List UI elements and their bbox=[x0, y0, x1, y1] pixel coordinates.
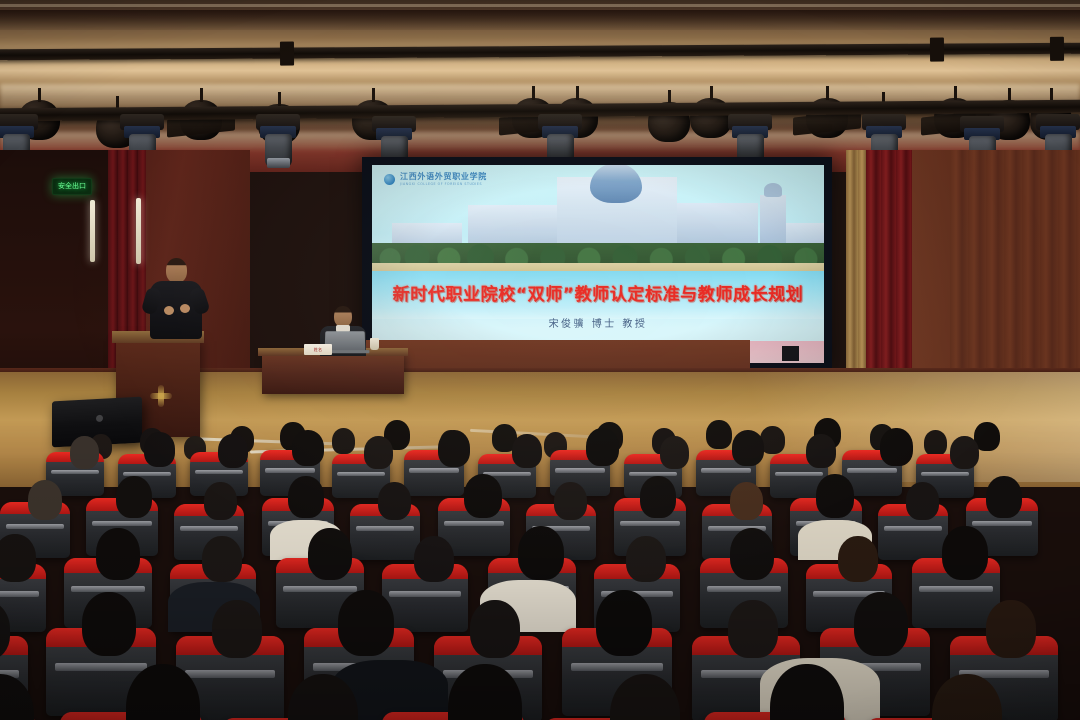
audience-head bbox=[438, 430, 470, 467]
audience-head bbox=[202, 536, 242, 582]
audience-head bbox=[924, 430, 947, 456]
audience-head bbox=[906, 482, 939, 520]
audience-head bbox=[626, 536, 666, 582]
wall-light-tube bbox=[90, 200, 95, 262]
audience-head bbox=[512, 434, 542, 468]
exit-sign-label: 安全出口 bbox=[58, 183, 86, 190]
audience-head bbox=[116, 476, 152, 518]
audience-head bbox=[806, 434, 836, 468]
audience-head bbox=[732, 430, 764, 466]
ceiling-seam bbox=[0, 4, 1080, 7]
audience-head bbox=[204, 482, 237, 520]
moving-head-light bbox=[372, 116, 416, 132]
audience-head bbox=[332, 428, 355, 454]
audience-head bbox=[0, 534, 36, 582]
slide-dome bbox=[590, 165, 642, 203]
moving-head-light bbox=[1036, 114, 1080, 130]
slide-subtitle: 宋俊骥 博士 教授 bbox=[372, 315, 824, 330]
audience-head bbox=[414, 536, 454, 582]
podium-emblem-icon bbox=[150, 385, 172, 407]
audience-head bbox=[596, 590, 652, 656]
host-desk bbox=[262, 352, 404, 394]
audience-head bbox=[364, 436, 393, 469]
audience-head bbox=[292, 430, 324, 466]
audience-head bbox=[28, 480, 62, 520]
college-name-en: JIANGXI COLLEGE OF FOREIGN STUDIES bbox=[400, 183, 487, 186]
presenter-head bbox=[166, 258, 187, 283]
audience-head bbox=[218, 434, 248, 468]
audience-head bbox=[816, 474, 854, 518]
audience-head bbox=[518, 526, 564, 580]
presenter-hand-right bbox=[180, 304, 190, 313]
audience-head bbox=[70, 436, 99, 469]
ceiling-shadow bbox=[0, 10, 1080, 30]
slide-black-square-artifact bbox=[782, 346, 799, 361]
audience-head bbox=[942, 526, 988, 580]
slide-title: 新时代职业院校“双师”教师认定标准与教师成长规划 bbox=[372, 287, 824, 304]
presentation-screen: 江西外语外贸职业学院 JIANGXI COLLEGE OF FOREIGN ST… bbox=[372, 165, 824, 363]
moving-head-light bbox=[256, 114, 300, 130]
exit-sign: 安全出口 bbox=[52, 178, 92, 195]
moving-head-light bbox=[0, 114, 38, 130]
ceiling bbox=[0, 0, 1080, 172]
standing-presenter bbox=[150, 258, 202, 339]
moving-head-light bbox=[538, 114, 582, 130]
audience-head bbox=[728, 600, 778, 658]
auditorium-photo: 安全出口 江西外语外贸职业学院 JIANGXI COLLEGE OF FOREI… bbox=[0, 0, 1080, 720]
audience-head bbox=[464, 474, 502, 518]
paper-cup bbox=[370, 338, 379, 350]
audience-seating bbox=[0, 418, 1080, 720]
college-logo-icon bbox=[384, 174, 395, 185]
audience-head bbox=[854, 592, 908, 656]
audience-head bbox=[586, 428, 619, 466]
audience-head bbox=[82, 592, 136, 656]
moving-head-light bbox=[862, 114, 906, 130]
audience-head bbox=[0, 674, 34, 720]
audience-head bbox=[986, 600, 1036, 658]
audience-head bbox=[96, 528, 140, 580]
audience-head bbox=[880, 428, 913, 466]
audience-head bbox=[640, 476, 676, 518]
college-name-cn: 江西外语外贸职业学院 bbox=[400, 173, 487, 181]
wall-light-tube bbox=[136, 198, 141, 264]
audience-head bbox=[338, 590, 394, 656]
presenter-hand-left bbox=[164, 306, 174, 315]
audience-head bbox=[144, 432, 175, 467]
audience-head bbox=[308, 528, 352, 580]
audience-head bbox=[950, 436, 979, 469]
host-head bbox=[334, 306, 352, 327]
audience-head bbox=[730, 482, 763, 520]
audience-head bbox=[554, 482, 587, 520]
audience-head bbox=[706, 420, 732, 449]
slide-logo: 江西外语外贸职业学院 JIANGXI COLLEGE OF FOREIGN ST… bbox=[384, 173, 487, 186]
moving-head-light bbox=[960, 116, 1004, 132]
audience-head bbox=[660, 436, 689, 469]
namecard-label: 姓名 bbox=[314, 347, 323, 353]
lighting-truss-upper bbox=[0, 43, 1080, 61]
audience-head bbox=[470, 600, 520, 658]
audience-head bbox=[212, 600, 262, 658]
moving-head-light bbox=[120, 114, 164, 130]
desk-namecard: 姓名 bbox=[304, 344, 332, 355]
audience-head bbox=[378, 482, 411, 520]
moving-head-light bbox=[728, 114, 772, 130]
audience-head bbox=[986, 476, 1022, 518]
audience-head bbox=[730, 528, 774, 580]
audience-head bbox=[838, 536, 878, 582]
audience-head bbox=[288, 476, 324, 518]
